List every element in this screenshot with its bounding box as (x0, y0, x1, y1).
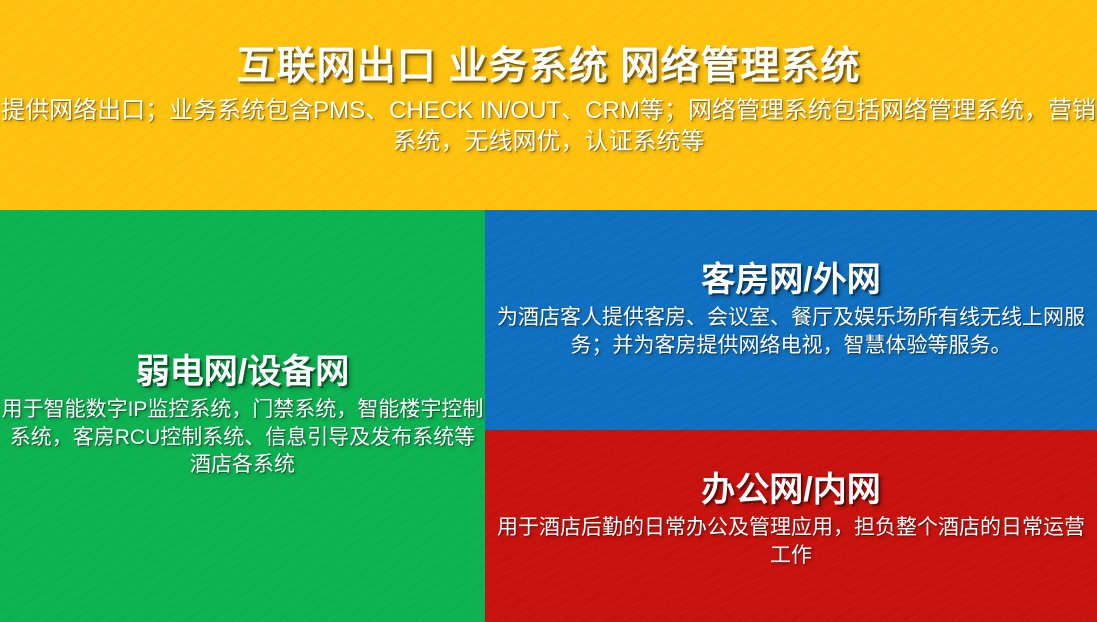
network-architecture-slide: 互联网出口 业务系统 网络管理系统 提供网络出口；业务系统包含PMS、CHECK… (0, 0, 1097, 622)
panel-weak-current-network: 弱电网/设备网 用于智能数字IP监控系统，门禁系统，智能楼宇控制系统，客房RCU… (0, 210, 485, 622)
panel-internet-egress: 互联网出口 业务系统 网络管理系统 提供网络出口；业务系统包含PMS、CHECK… (0, 0, 1097, 210)
panel-internet-description: 提供网络出口；业务系统包含PMS、CHECK IN/OUT、CRM等；网络管理系… (0, 95, 1097, 157)
panel-guestroom-title: 客房网/外网 (701, 262, 880, 299)
panel-office-title: 办公网/内网 (701, 472, 880, 509)
panel-guestroom-external-network: 客房网/外网 为酒店客人提供客房、会议室、餐厅及娱乐场所有线无线上网服务；并为客… (485, 210, 1097, 430)
panel-office-description: 用于酒店后勤的日常办公及管理应用，担负整个酒店的日常运营工作 (491, 514, 1091, 569)
panel-weak-current-description: 用于智能数字IP监控系统，门禁系统，智能楼宇控制系统，客房RCU控制系统、信息引… (0, 396, 485, 478)
panel-guestroom-description: 为酒店客人提供客房、会议室、餐厅及娱乐场所有线无线上网服务；并为客房提供网络电视… (491, 304, 1091, 359)
panel-office-internal-network: 办公网/内网 用于酒店后勤的日常办公及管理应用，担负整个酒店的日常运营工作 (485, 430, 1097, 622)
panel-weak-current-title: 弱电网/设备网 (136, 354, 349, 391)
panel-internet-title: 互联网出口 业务系统 网络管理系统 (237, 46, 861, 89)
